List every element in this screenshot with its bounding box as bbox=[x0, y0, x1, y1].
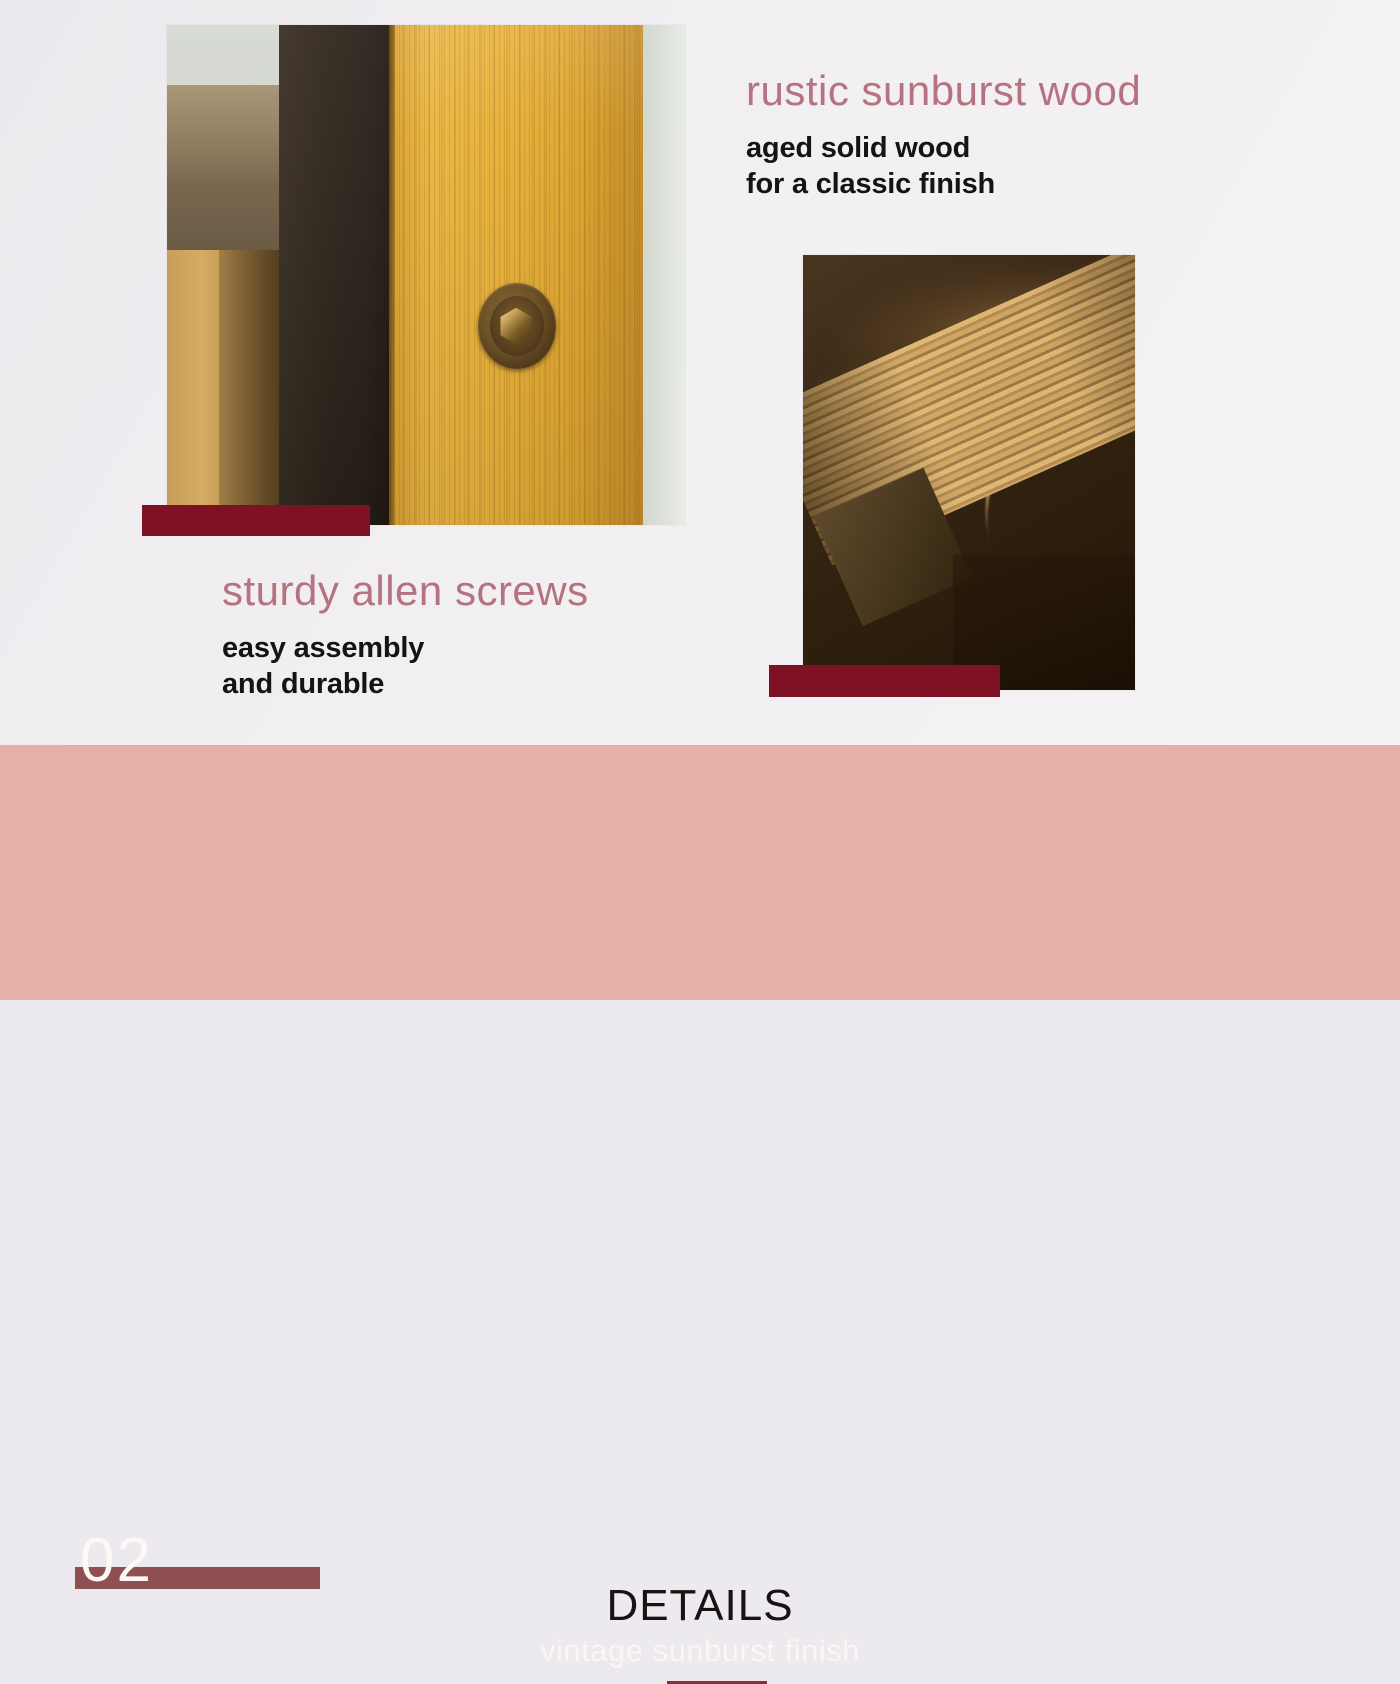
accent-bar-right bbox=[769, 665, 1000, 697]
feature-subtext-line-1: aged solid wood bbox=[746, 131, 1141, 166]
photo1-shelf-face bbox=[167, 180, 285, 250]
accent-bar-left bbox=[142, 505, 370, 536]
feature-headline: sturdy allen screws bbox=[222, 566, 589, 616]
carved-wood-edge-closeup-photo bbox=[803, 255, 1135, 690]
feature-caption-sturdy-allen-screws: sturdy allen screws easy assembly and du… bbox=[222, 566, 589, 702]
feature-subtext-line-2: and durable bbox=[222, 667, 589, 702]
feature-caption-rustic-sunburst-wood: rustic sunburst wood aged solid wood for… bbox=[746, 66, 1141, 202]
upper-feature-section: rustic sunburst wood aged solid wood for… bbox=[0, 0, 1400, 745]
photo1-plank-edge bbox=[389, 25, 395, 525]
feature-subtext-line-1: easy assembly bbox=[222, 631, 589, 666]
product-detail-page: rustic sunburst wood aged solid wood for… bbox=[0, 0, 1400, 1000]
wood-grain-screw-closeup-photo bbox=[167, 25, 685, 525]
section-title: DETAILS bbox=[0, 1581, 1400, 1631]
photo1-golden-plank bbox=[389, 25, 643, 525]
feature-headline: rustic sunburst wood bbox=[746, 66, 1141, 116]
feature-subtext: aged solid wood for a classic finish bbox=[746, 131, 1141, 202]
photo1-dark-post bbox=[279, 25, 395, 525]
feature-subtext-line-2: for a classic finish bbox=[746, 167, 1141, 202]
photo1-shelf-top bbox=[167, 85, 285, 180]
section-banner: 02 DETAILS vintage sunburst finish bbox=[0, 745, 1400, 1000]
photo1-column-shadow bbox=[219, 250, 285, 525]
section-subtitle: vintage sunburst finish bbox=[0, 1633, 1400, 1669]
feature-subtext: easy assembly and durable bbox=[222, 631, 589, 702]
allen-screw-head-icon bbox=[478, 283, 556, 369]
